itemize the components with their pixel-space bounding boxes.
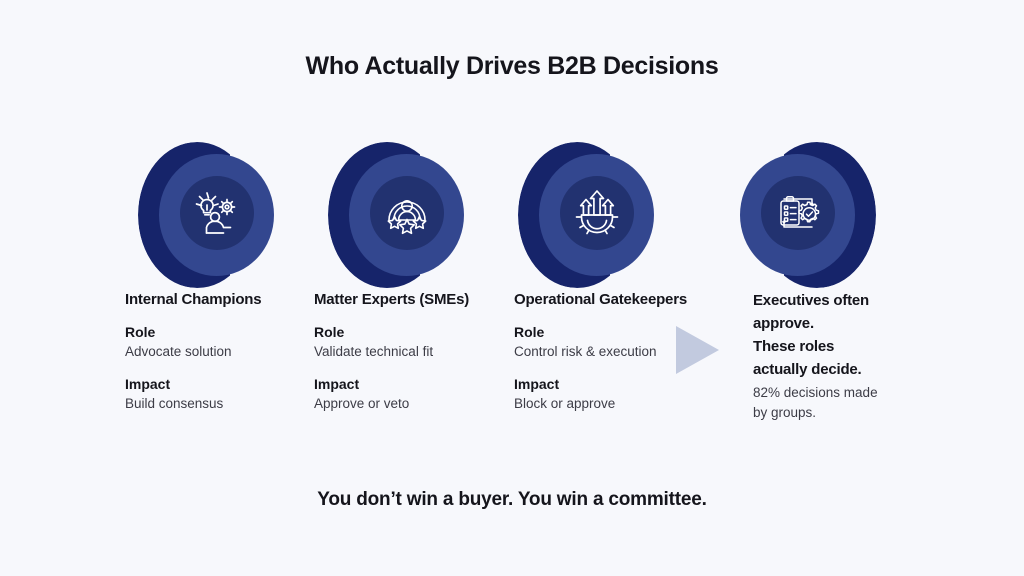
person-stars-expert-icon (381, 187, 433, 239)
conclusion-stat-line-2: by groups. (753, 403, 928, 423)
column-internal-champions: Internal Champions Role Advocate solutio… (125, 291, 305, 414)
column-matter-experts: Matter Experts (SMEs) Role Validate tech… (314, 291, 499, 414)
conclusion-lead-line-4: actually decide. (753, 360, 928, 379)
badge-operational-gatekeepers (518, 142, 654, 288)
column-heading: Operational Gatekeepers (514, 291, 724, 310)
lightbulb-head-gear-icon (191, 187, 243, 239)
conclusion-stat-line-1: 82% decisions made (753, 383, 928, 403)
column-operational-gatekeepers: Operational Gatekeepers Role Control ris… (514, 291, 724, 414)
role-value: Control risk & execution (514, 343, 724, 361)
page-title: Who Actually Drives B2B Decisions (0, 52, 1024, 81)
badge-row (0, 142, 1024, 292)
infographic-slide: Who Actually Drives B2B Decisions (0, 0, 1024, 576)
impact-label: Impact (514, 375, 724, 393)
column-heading: Matter Experts (SMEs) (314, 291, 499, 310)
role-value: Advocate solution (125, 343, 305, 361)
impact-value: Approve or veto (314, 395, 499, 413)
clipboard-gear-check-icon (772, 187, 824, 239)
conclusion-lead-line-1: Executives often (753, 291, 928, 310)
badge-internal-champions (138, 142, 274, 288)
conclusion-lead-line-2: approve. (753, 314, 928, 333)
badge-matter-experts (328, 142, 464, 288)
impact-label: Impact (125, 375, 305, 393)
role-label: Role (125, 323, 305, 341)
role-label: Role (514, 323, 724, 341)
role-label: Role (314, 323, 499, 341)
column-conclusion: Executives often approve. These roles ac… (753, 291, 928, 422)
role-value: Validate technical fit (314, 343, 499, 361)
badge-executive-decision (740, 142, 876, 288)
column-heading: Internal Champions (125, 291, 305, 310)
conclusion-lead-line-3: These roles (753, 337, 928, 356)
impact-value: Build consensus (125, 395, 305, 413)
impact-value: Block or approve (514, 395, 724, 413)
footer-tagline: You don’t win a buyer. You win a committ… (0, 489, 1024, 511)
gear-up-arrows-icon (571, 187, 623, 239)
impact-label: Impact (314, 375, 499, 393)
